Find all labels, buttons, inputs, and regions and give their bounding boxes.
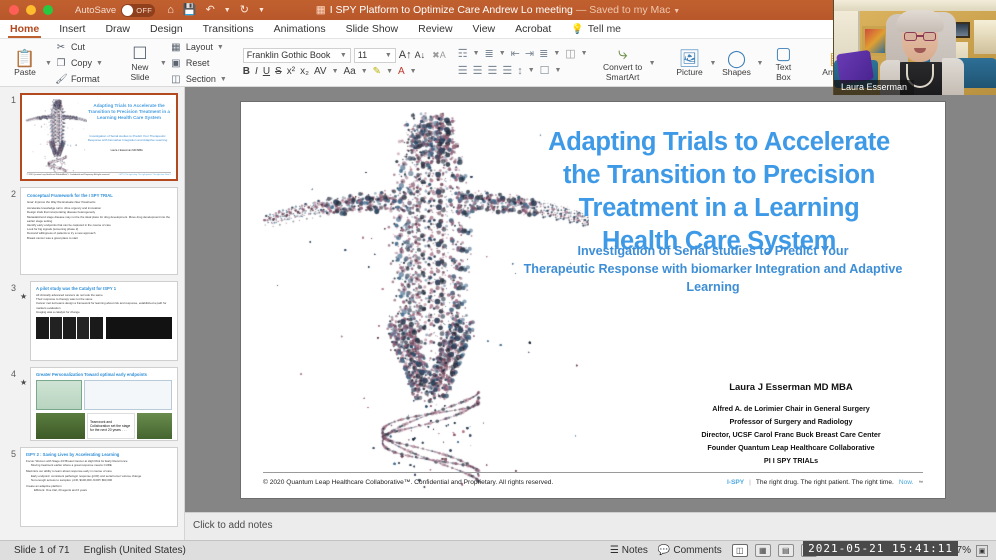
bullets-icon[interactable]: ☶ [458, 47, 468, 60]
lightbulb-icon: 💡 [571, 20, 583, 39]
comments-button-label: Comments [673, 545, 721, 556]
section-label: Section [186, 74, 216, 84]
thumbnail-4-title: Greater Personalization Toward optimal e… [36, 372, 172, 377]
notes-icon: ☰ [610, 545, 619, 556]
convert-label-2: SmartArt [606, 73, 640, 82]
align-text-chevron-down-icon[interactable]: ▼ [555, 67, 562, 74]
paintbrush-icon: 🖌 [55, 74, 67, 85]
undo-chevron-down-icon[interactable]: ▼ [224, 7, 231, 14]
shapes-label: Shapes [722, 68, 751, 77]
redo-icon[interactable]: ↻ [240, 5, 249, 16]
tab-slide-show[interactable]: Slide Show [336, 20, 409, 39]
thumbnail-5-bullet-2: Moving treatment earlier where a great r… [26, 463, 172, 467]
copy-icon: ❐ [55, 58, 67, 69]
thumbnail-row-2[interactable]: 2 Conceptual Framework for the I SPY TRI… [0, 181, 184, 275]
reset-icon: ▣ [170, 58, 182, 69]
shapes-button[interactable]: ◯ Shapes [716, 40, 756, 86]
new-slide-button[interactable]: ☐ New Slide [120, 40, 160, 86]
credit-line-3: Director, UCSF Carol Franc Buck Breast C… [621, 428, 945, 441]
window-light [974, 20, 996, 54]
thumbnail-1-footer-left: © 2020 Quantum Leap Healthcare Collabora… [27, 174, 110, 176]
layout-label: Layout [186, 42, 213, 52]
reset-label: Reset [186, 58, 210, 68]
thumbnail-5-bullet-7: Efficient: One trial, 20 agents and 6 ye… [26, 488, 172, 492]
change-case-chevron-down-icon[interactable]: ▼ [361, 68, 368, 75]
thumbnail-1-title: Adapting Trials to Accelerate the Transi… [87, 103, 172, 121]
window-controls[interactable] [9, 5, 53, 15]
slide-copyright: © 2020 Quantum Leap Healthcare Collabora… [263, 479, 553, 486]
align-center-icon[interactable]: ☰ [473, 64, 483, 77]
ribbon-group-insert: 🖼 Picture ▼ ◯ Shapes ▼ ▢ Text Box [665, 39, 809, 87]
new-slide-label-2: Slide [130, 73, 149, 82]
document-title: I SPY Platform to Optimize Care Andrew L… [330, 4, 573, 16]
bullets-chevron-down-icon[interactable]: ▼ [473, 50, 480, 57]
slide-brand-tagline: I-SPY | The right drug. The right patien… [727, 479, 923, 486]
copy-label: Copy [71, 58, 92, 68]
convert-to-smartart-button[interactable]: ⤷ Convert to SmartArt [597, 40, 649, 86]
ribbon-group-slides: ☐ New Slide ▼ ▦ Layout ▼ ▣ Reset ◫ Secti… [115, 39, 235, 87]
paste-chevron-down-icon[interactable]: ▼ [45, 60, 52, 67]
justify-icon[interactable]: ☰ [502, 64, 512, 77]
slide-title-line-2: the Transition to Precision [509, 159, 929, 192]
picture-chevron-down-icon[interactable]: ▼ [710, 60, 717, 67]
thumbnail-3-animation-star-icon: ★ [20, 281, 30, 301]
cut-button[interactable]: ✂ Cut [52, 40, 106, 54]
decrease-indent-icon[interactable]: ⇤ [511, 47, 520, 60]
customize-toolbar-icon[interactable]: ▼ [258, 7, 265, 14]
new-slide-chevron-down-icon[interactable]: ▼ [160, 60, 167, 67]
thumbnail-row-3[interactable]: 3 ★ A pilot study was the Catalyst for I… [0, 275, 184, 361]
text-highlight-icon[interactable]: ✎ [373, 66, 381, 77]
thumbnail-1-subtitle: Investigation of Serial studies to Predi… [84, 134, 172, 142]
comment-bubble-icon: 💬 [658, 545, 670, 556]
footer-now-label: Now. [899, 479, 914, 486]
strikethrough-button[interactable]: S [275, 66, 282, 77]
thumbnail-slide-5[interactable]: ISPY 2 : Saving Lives by Accelerating Le… [20, 447, 178, 527]
tab-animations[interactable]: Animations [264, 20, 336, 39]
highlight-chevron-down-icon[interactable]: ▼ [386, 68, 393, 75]
slide-sorter-view-button[interactable]: ▦ [755, 544, 771, 557]
copy-button[interactable]: ❐ Copy ▼ [52, 56, 106, 70]
font-size-input[interactable]: 11 ▼ [354, 48, 396, 63]
new-slide-icon: ☐ [132, 45, 147, 62]
thumbnail-5-bullet-5: Not enough access to samples: pCR, $100,… [26, 478, 172, 482]
scissors-icon: ✂ [55, 42, 67, 53]
slide-credits-textbox[interactable]: Alfred A. de Lorimier Chair in General S… [621, 402, 945, 467]
tab-draw[interactable]: Draw [95, 20, 140, 39]
thumbnail-number-1: 1 [4, 93, 20, 105]
undo-icon[interactable]: ↶ [206, 5, 215, 16]
increase-indent-icon[interactable]: ⇥ [525, 47, 534, 60]
text-direction-chevron-down-icon[interactable]: ▼ [528, 67, 535, 74]
align-right-icon[interactable]: ☰ [487, 64, 497, 77]
slide-editing-stage: Adapting Trials to Accelerate the Transi… [185, 87, 996, 512]
thumbnail-2-bullet-3: Metastatic/end stage disease may not be … [27, 215, 171, 223]
toggle-knob [122, 5, 133, 16]
layout-icon: ▦ [170, 42, 182, 53]
change-case-icon[interactable]: Aa [344, 66, 356, 77]
font-size-value: 11 [358, 50, 367, 60]
thumbnail-slide-3[interactable]: A pilot study was the Catalyst for ISPY … [30, 281, 178, 361]
thumbnail-4-callout: Teamwork and Collaboration set the stage… [90, 420, 132, 432]
thumbnail-slide-4[interactable]: Greater Personalization Toward optimal e… [30, 367, 178, 441]
format-painter-button[interactable]: 🖌 Format [52, 72, 106, 86]
smartart-icon: ⤷ [618, 45, 628, 62]
normal-view-button[interactable]: ◫ [732, 544, 748, 557]
credit-line-4: Founder Quantum Leap Healthcare Collabor… [621, 441, 945, 454]
increase-font-size-icon[interactable]: A↑ [399, 49, 412, 61]
notes-pane[interactable]: Click to add notes [185, 512, 996, 540]
thumbnail-3-image-strip [36, 317, 172, 339]
new-slide-label-1: New [131, 63, 148, 72]
thumbnail-3-title: A pilot study was the Catalyst for ISPY … [36, 286, 172, 291]
tab-transitions[interactable]: Transitions [193, 20, 264, 39]
slide-subtitle-line-2: Therapeutic Response with biomarker Inte… [493, 260, 933, 278]
numbering-chevron-down-icon[interactable]: ▼ [499, 50, 506, 57]
copy-chevron-down-icon[interactable]: ▼ [96, 60, 103, 67]
thumbnail-slide-1[interactable]: Adapting Trials to Accelerate the Transi… [20, 93, 178, 181]
columns-icon[interactable]: ◫ [565, 47, 575, 60]
format-label: Format [71, 74, 100, 84]
tab-home[interactable]: Home [0, 20, 49, 39]
section-button[interactable]: ◫ Section ▼ [167, 72, 230, 86]
character-spacing-chevron-down-icon[interactable]: ▼ [332, 68, 339, 75]
character-spacing-icon[interactable]: AV [314, 66, 327, 77]
autosave-label: AutoSave [75, 5, 116, 16]
layout-button[interactable]: ▦ Layout ▼ [167, 40, 230, 54]
smartart-chevron-down-icon[interactable]: ▼ [649, 60, 656, 67]
text-direction-icon[interactable]: ↕ [517, 65, 523, 77]
current-slide[interactable]: Adapting Trials to Accelerate the Transi… [241, 102, 945, 498]
bold-button[interactable]: B [243, 66, 250, 77]
thumbnail-4-animation-star-icon: ★ [20, 367, 30, 387]
section-chevron-down-icon[interactable]: ▼ [220, 76, 227, 83]
columns-chevron-down-icon[interactable]: ▼ [581, 50, 588, 57]
maximize-icon[interactable] [43, 5, 53, 15]
reading-view-button[interactable]: ▤ [778, 544, 794, 557]
thumbnail-number-4: 4 [4, 367, 20, 379]
text-box-label-1: Text [776, 63, 792, 72]
credit-line-5: PI I SPY TRIALs [621, 454, 945, 467]
save-icon[interactable]: 💾 [183, 5, 197, 16]
footer-trademark: ™ [919, 480, 924, 485]
minimize-icon[interactable] [26, 5, 36, 15]
font-name-value: Franklin Gothic Book [247, 50, 331, 60]
fit-to-window-button[interactable]: ▣ [976, 545, 988, 557]
document-icon: ▦ [316, 4, 326, 16]
tab-insert[interactable]: Insert [49, 20, 95, 39]
slide-footer: © 2020 Quantum Leap Healthcare Collabora… [263, 472, 923, 486]
thumbnail-number-2: 2 [4, 187, 20, 199]
italic-button[interactable]: I [255, 66, 258, 77]
autosave-state: OFF [136, 6, 152, 15]
paste-button[interactable]: 📋 Paste [5, 40, 45, 86]
slide-title-line-1: Adapting Trials to Accelerate [509, 126, 929, 159]
layout-chevron-down-icon[interactable]: ▼ [217, 44, 224, 51]
thumbnail-number-3: 3 [4, 281, 20, 293]
thumbnail-slide-2[interactable]: Conceptual Framework for the I SPY TRIAL… [20, 187, 178, 275]
font-name-chevron-down-icon[interactable]: ▼ [340, 52, 347, 59]
slide-subtitle-line-1: Investigation of Serial studies to Predi… [493, 242, 933, 260]
thumbnail-1-author: Laura J Esserman MD MBA [84, 149, 170, 153]
reset-button[interactable]: ▣ Reset [167, 56, 230, 70]
credit-line-1: Alfred A. de Lorimier Chair in General S… [621, 402, 945, 415]
subscript-button[interactable]: x₂ [300, 66, 309, 77]
video-participant-panel[interactable]: Laura Esserman [833, 0, 996, 95]
thumbnail-2-title: Conceptual Framework for the I SPY TRIAL [27, 193, 171, 198]
picture-label: Picture [676, 68, 702, 77]
tell-me-search[interactable]: 💡 Tell me [561, 20, 631, 39]
convert-label-1: Convert to [603, 63, 642, 72]
ribbon-group-smartart: ⤷ Convert to SmartArt ▼ [592, 39, 661, 87]
decrease-font-size-icon[interactable]: A↓ [415, 50, 426, 60]
line-spacing-chevron-down-icon[interactable]: ▼ [553, 50, 560, 57]
shapes-chevron-down-icon[interactable]: ▼ [756, 60, 763, 67]
line-spacing-icon[interactable]: ≣ [539, 47, 548, 60]
save-status: — Saved to my Mac [576, 4, 671, 16]
tab-view[interactable]: View [463, 20, 506, 39]
home-icon[interactable]: ⌂ [167, 5, 174, 16]
tab-acrobat[interactable]: Acrobat [505, 20, 561, 39]
font-size-chevron-down-icon[interactable]: ▼ [385, 52, 392, 59]
ribbon-group-font: Franklin Gothic Book ▼ 11 ▼ A↑ A↓ ✖A B I… [239, 39, 450, 85]
slide-author-name: Laura J Esserman MD MBA [641, 382, 941, 393]
powerpoint-window: AutoSave OFF ⌂ 💾 ↶ ▼ ↻ ▼ ▦I SPY Platform… [0, 0, 996, 560]
picture-button[interactable]: 🖼 Picture [670, 40, 710, 86]
notes-placeholder: Click to add notes [193, 520, 273, 531]
thumbnail-2-bullet-7: Breast cancer was a great place to start [27, 236, 171, 240]
thumbnail-2-goal: Goal: Improve the Way We Evaluate New Tr… [27, 200, 171, 204]
picture-icon: 🖼 [679, 50, 701, 67]
font-name-input[interactable]: Franklin Gothic Book ▼ [243, 48, 351, 63]
text-box-label-2: Box [776, 73, 791, 82]
ribbon-group-paragraph: ☶ ▼ ≣ ▼ ⇤ ⇥ ≣ ▼ ◫ ▼ ☰ ☰ ☰ ☰ ↕ ▼ ☐ ▼ [454, 39, 592, 85]
shapes-icon: ◯ [727, 50, 746, 67]
text-box-icon: ▢ [775, 45, 791, 62]
ribbon-group-clipboard: 📋 Paste ▼ ✂ Cut ❐ Copy ▼ 🖌 Format [0, 39, 111, 87]
participant-name-label: Laura Esserman [834, 80, 914, 95]
close-icon[interactable] [9, 5, 19, 15]
underline-button[interactable]: U [263, 66, 270, 77]
thumbnail-5-title: ISPY 2 : Saving Lives by Accelerating Le… [26, 452, 172, 457]
comments-toggle-button[interactable]: 💬 Comments [658, 545, 722, 556]
thumbnail-3-bullet-4: Imaging was a catalyst for change [36, 310, 172, 314]
tab-review[interactable]: Review [408, 20, 462, 39]
ispy-brand-label: I-SPY [727, 479, 744, 486]
align-text-icon[interactable]: ☐ [540, 64, 550, 77]
thumbnail-3-bullet-3: Cancer met led teams design a framework … [36, 301, 172, 309]
paste-label: Paste [14, 68, 36, 77]
thumbnail-row-4[interactable]: 4 ★ Greater Personalization Toward optim… [0, 361, 184, 441]
dna-figure-thumbnail [25, 99, 87, 175]
tab-design[interactable]: Design [140, 20, 193, 39]
thumbnail-row-5[interactable]: 5 ISPY 2 : Saving Lives by Accelerating … [0, 441, 184, 527]
numbering-icon[interactable]: ≣ [485, 47, 494, 60]
font-color-icon[interactable]: A [398, 66, 405, 77]
slide-subtitle-textbox[interactable]: Investigation of Serial studies to Predi… [493, 242, 933, 296]
thumbnail-row-1[interactable]: 1 Adapting Trials to Accelerate the Tran… [0, 87, 184, 181]
clear-formatting-icon[interactable]: ✖A [432, 50, 446, 61]
cut-label: Cut [71, 42, 85, 52]
text-box-button[interactable]: ▢ Text Box [763, 40, 803, 86]
notes-button-label: Notes [622, 545, 648, 556]
clipboard-icon: 📋 [14, 50, 35, 67]
credit-line-2: Professor of Surgery and Radiology [621, 415, 945, 428]
superscript-button[interactable]: x² [287, 66, 295, 77]
save-chevron-down-icon[interactable]: ▼ [673, 8, 680, 15]
language-indicator[interactable]: English (United States) [84, 545, 186, 556]
tell-me-label: Tell me [588, 20, 621, 39]
section-icon: ◫ [170, 74, 182, 85]
screen-recording-timestamp: 2021-05-21 15:41:11 [803, 541, 958, 556]
notes-toggle-button[interactable]: ☰ Notes [610, 545, 648, 556]
autosave-control[interactable]: AutoSave OFF [75, 4, 155, 17]
autosave-toggle[interactable]: OFF [121, 4, 155, 17]
slide-title-textbox[interactable]: Adapting Trials to Accelerate the Transi… [509, 126, 929, 258]
thumbnail-1-footer-right: I-SPY | The right drug. The right patien… [119, 174, 172, 176]
slide-counter[interactable]: Slide 1 of 71 [14, 545, 70, 556]
slide-subtitle-line-3: Learning [493, 278, 933, 296]
shawl-right [942, 58, 964, 95]
eyeglasses-icon [904, 32, 936, 41]
slide-title-line-3: Treatment in a Learning [509, 192, 929, 225]
font-color-chevron-down-icon[interactable]: ▼ [410, 68, 417, 75]
footer-tagline: The right drug. The right patient. The r… [756, 479, 894, 486]
slide-thumbnail-panel[interactable]: 1 Adapting Trials to Accelerate the Tran… [0, 87, 185, 540]
footer-divider: | [749, 479, 751, 486]
align-left-icon[interactable]: ☰ [458, 64, 468, 77]
thumbnail-number-5: 5 [4, 447, 20, 459]
hair-top [896, 10, 944, 32]
